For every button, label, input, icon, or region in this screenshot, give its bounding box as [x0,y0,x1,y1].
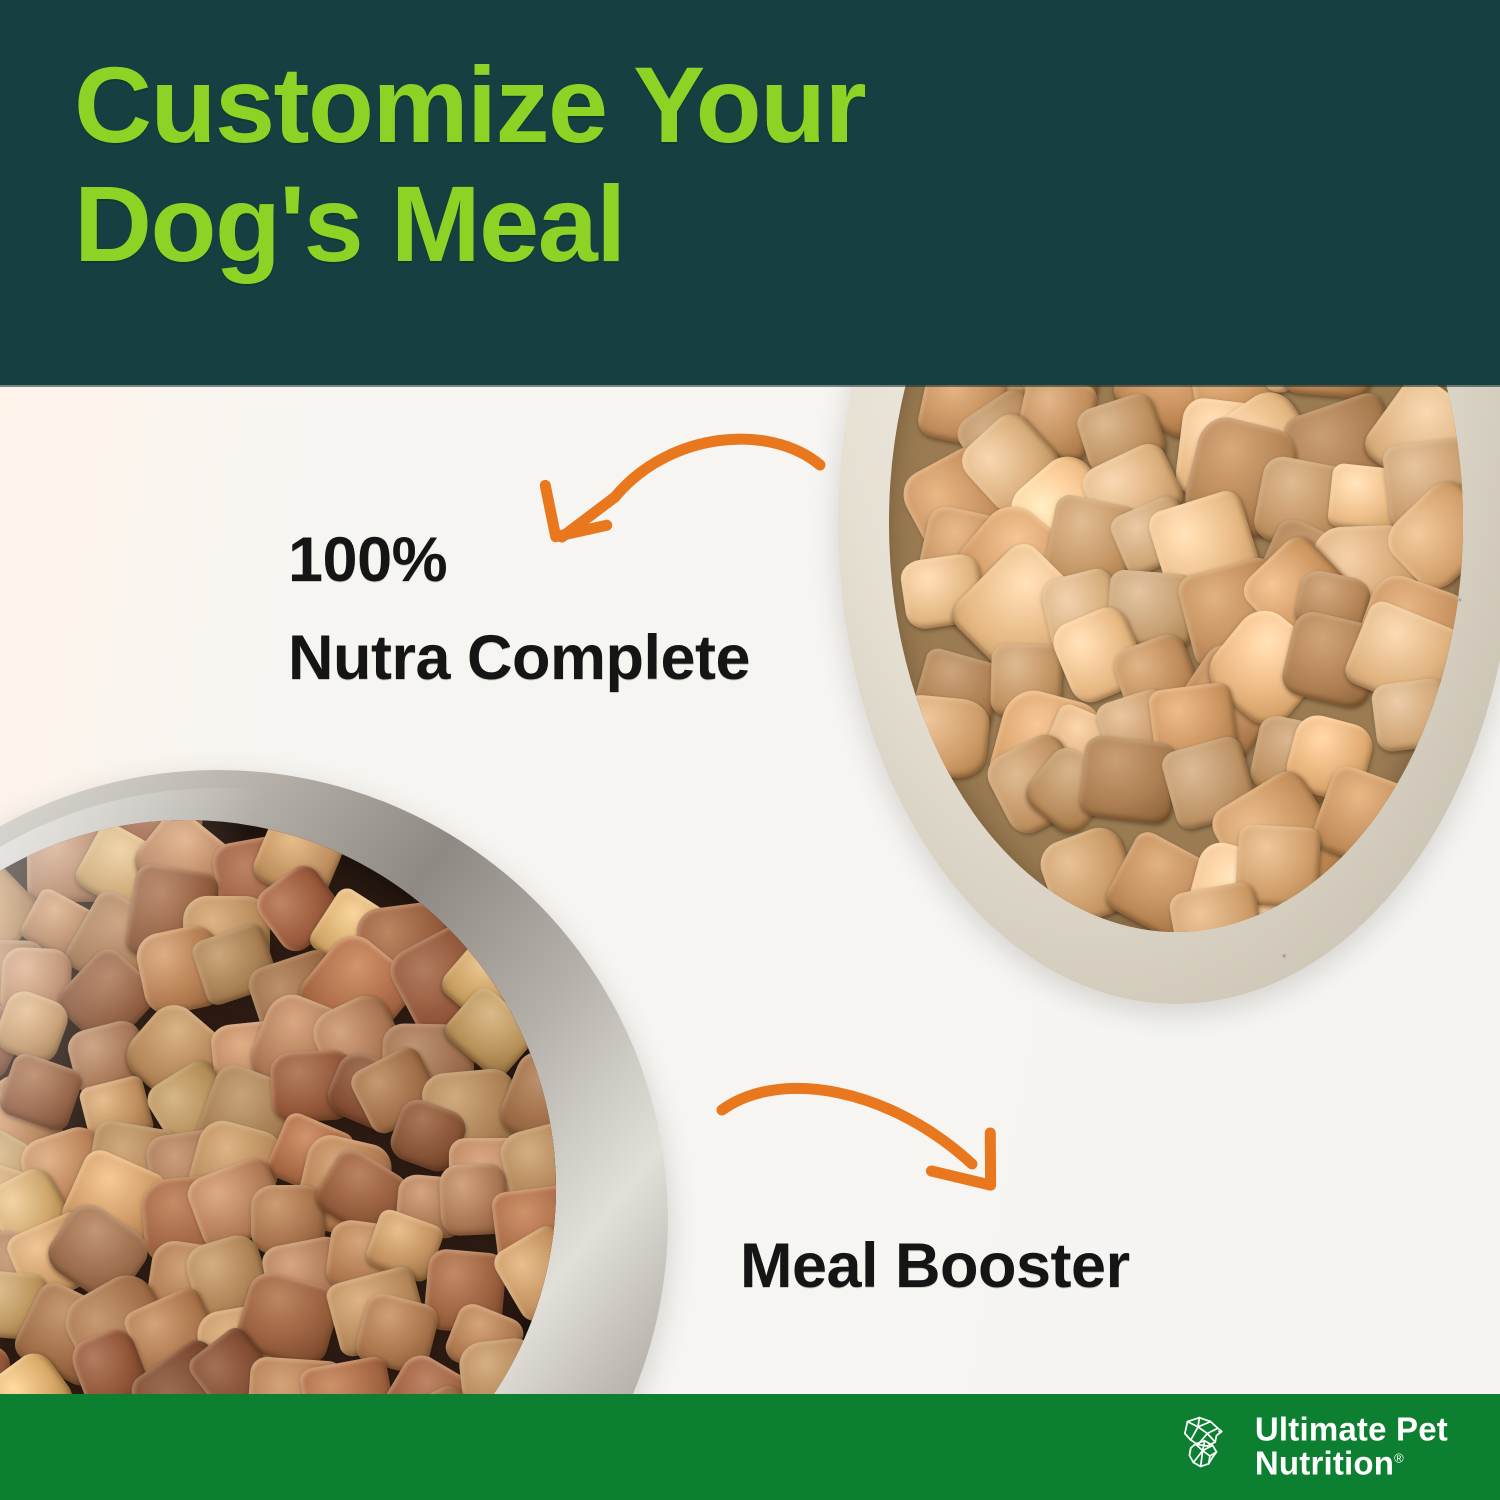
ultimate-pet-nutrition-logo-icon [1169,1414,1235,1480]
brand-lockup: Ultimate Pet Nutrition® [1169,1413,1448,1482]
product-marketing-image: Customize Your Dog's Meal 100% Nutra Com… [0,0,1500,1500]
curved-arrow-down-right-icon [700,1060,1040,1240]
callout-label-meal-booster: Meal Booster [740,1232,1130,1301]
brand-line-2: Nutrition [1255,1445,1394,1482]
callout-label-nutra-complete: 100% Nutra Complete [288,512,750,707]
brand-footer-bar: Ultimate Pet Nutrition® [0,1394,1500,1500]
brand-line-2-wrap: Nutrition® [1255,1447,1448,1481]
page-title: Customize Your Dog's Meal [74,46,865,284]
header-band: Customize Your Dog's Meal [0,0,1500,385]
brand-line-1: Ultimate Pet [1255,1413,1448,1447]
brand-name: Ultimate Pet Nutrition® [1255,1413,1448,1482]
registered-mark: ® [1394,1451,1404,1466]
